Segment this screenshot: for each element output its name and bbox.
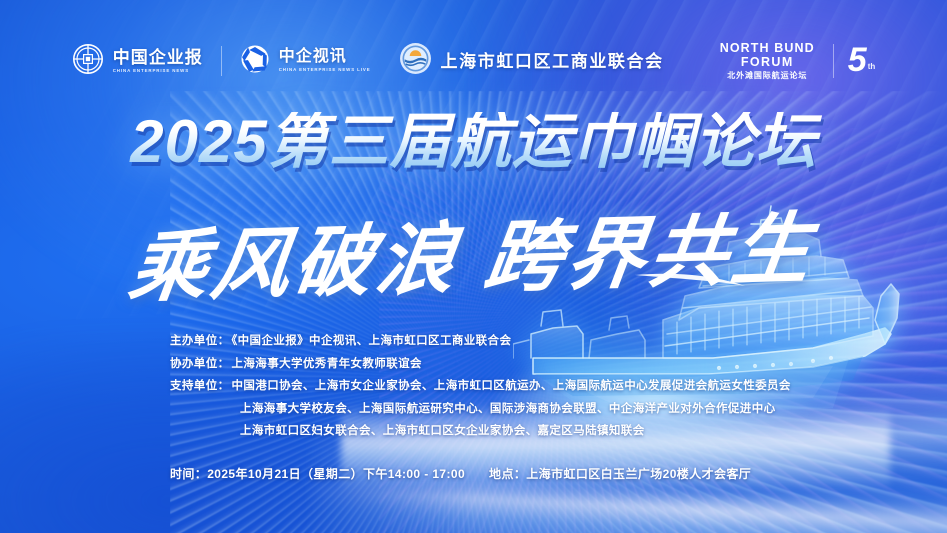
supporters-label: 支持单位： xyxy=(170,380,230,392)
logo-north-bund-forum: NORTH BUND FORUM 北外滩国际航运论坛 xyxy=(678,42,829,80)
sponsor-logo-bar: 中国企业报 CHINA ENTERPRISE NEWS xyxy=(0,42,947,80)
logo-label-en: CHINA ENTERPRISE NEWS LIVE xyxy=(279,68,371,72)
camera-shutter-play-logo-icon xyxy=(240,44,270,79)
supporters-row-2: 上海海事大学校友会、上海国际航运研究中心、国际涉海商协会联盟、中企海洋产业对外合… xyxy=(170,404,791,416)
logo-label-cn: 中企视讯 xyxy=(279,49,371,65)
co-organizer-value: 上海海事大学优秀青年女教师联谊会 xyxy=(232,358,422,370)
logo-text-block: 中国企业报 CHINA ENTERPRISE NEWS xyxy=(113,49,203,73)
event-poster: 中国企业报 CHINA ENTERPRISE NEWS xyxy=(0,0,947,533)
organizer-label: 主办单位： xyxy=(170,335,230,347)
supporters-row-1: 支持单位：中国港口协会、上海市女企业家协会、上海市虹口区航运办、上海国际航运中心… xyxy=(170,381,791,393)
logo-text-block: 上海市虹口区工商业联合会 xyxy=(441,53,664,70)
time-value: 2025年10月21日（星期二）下午14:00 - 17:00 xyxy=(207,467,465,481)
anniversary-badge: 5 th xyxy=(838,47,889,75)
place-value: 上海市虹口区白玉兰广场20楼人才会客厅 xyxy=(526,467,751,481)
logo-divider xyxy=(221,46,222,76)
co-organizer-row: 协办单位：上海海事大学优秀青年女教师联谊会 xyxy=(170,359,791,371)
anniversary-divider xyxy=(833,44,834,78)
slogan-part-2: 跨界共生 xyxy=(480,203,821,303)
slogan-calligraphy: 乘风破浪跨界共生 xyxy=(124,187,823,318)
poster-main-title: 2025第三届航运巾帼论坛 xyxy=(0,112,947,172)
supporters-value-1: 中国港口协会、上海市女企业家协会、上海市虹口区航运办、上海国际航运中心发展促进会… xyxy=(232,380,791,392)
organizer-row: 主办单位：《中国企业报》中企视讯、上海市虹口区工商业联合会 xyxy=(170,336,791,348)
sunrise-wave-emblem-icon xyxy=(399,42,432,80)
north-bund-line2: FORUM xyxy=(720,56,815,69)
anniversary-number: 5 xyxy=(848,47,866,75)
event-time-place: 时间：2025年10月21日（星期二）下午14:00 - 17:00地点：上海市… xyxy=(170,465,751,482)
north-bund-forum-en: NORTH BUND FORUM xyxy=(720,42,815,68)
logo-text-block: 中企视讯 CHINA ENTERPRISE NEWS LIVE xyxy=(279,49,371,72)
logo-label-cn: 上海市虹口区工商业联合会 xyxy=(441,53,664,70)
time-label: 时间： xyxy=(170,467,207,481)
logo-label-cn: 中国企业报 xyxy=(113,49,203,66)
north-bund-forum-cn: 北外滩国际航运论坛 xyxy=(727,72,807,80)
organizer-info-block: 主办单位：《中国企业报》中企视讯、上海市虹口区工商业联合会 协办单位：上海海事大… xyxy=(170,336,791,449)
slogan-part-1: 乘风破浪 xyxy=(124,213,465,313)
place-label: 地点： xyxy=(489,467,526,481)
supporters-row-3: 上海市虹口区妇女联合会、上海市虹口区女企业家协会、嘉定区马陆镇知联会 xyxy=(170,426,791,438)
co-organizer-label: 协办单位： xyxy=(170,358,230,370)
slogan-spacer xyxy=(456,285,482,286)
anniversary-mark: 5 th xyxy=(848,47,875,75)
circular-seal-logo-icon xyxy=(72,43,104,80)
north-bund-forum-wordmark: NORTH BUND FORUM 北外滩国际航运论坛 xyxy=(720,42,815,80)
logo-shanghai-hongkou-federation: 上海市虹口区工商业联合会 xyxy=(385,42,678,80)
logo-china-enterprise-news-live: 中企视讯 CHINA ENTERPRISE NEWS LIVE xyxy=(226,44,385,79)
anniversary-suffix: th xyxy=(868,62,876,75)
supporters-value-2: 上海海事大学校友会、上海国际航运研究中心、国际涉海商协会联盟、中企海洋产业对外合… xyxy=(240,403,776,415)
logo-china-enterprise-news: 中国企业报 CHINA ENTERPRISE NEWS xyxy=(58,43,217,80)
poster-slogan: 乘风破浪跨界共生 xyxy=(0,196,947,308)
supporters-value-3: 上海市虹口区妇女联合会、上海市虹口区女企业家协会、嘉定区马陆镇知联会 xyxy=(240,425,645,437)
organizer-value: 《中国企业报》中企视讯、上海市虹口区工商业联合会 xyxy=(232,335,512,347)
logo-label-en: CHINA ENTERPRISE NEWS xyxy=(113,69,203,73)
north-bund-line1: NORTH BUND xyxy=(720,41,815,55)
